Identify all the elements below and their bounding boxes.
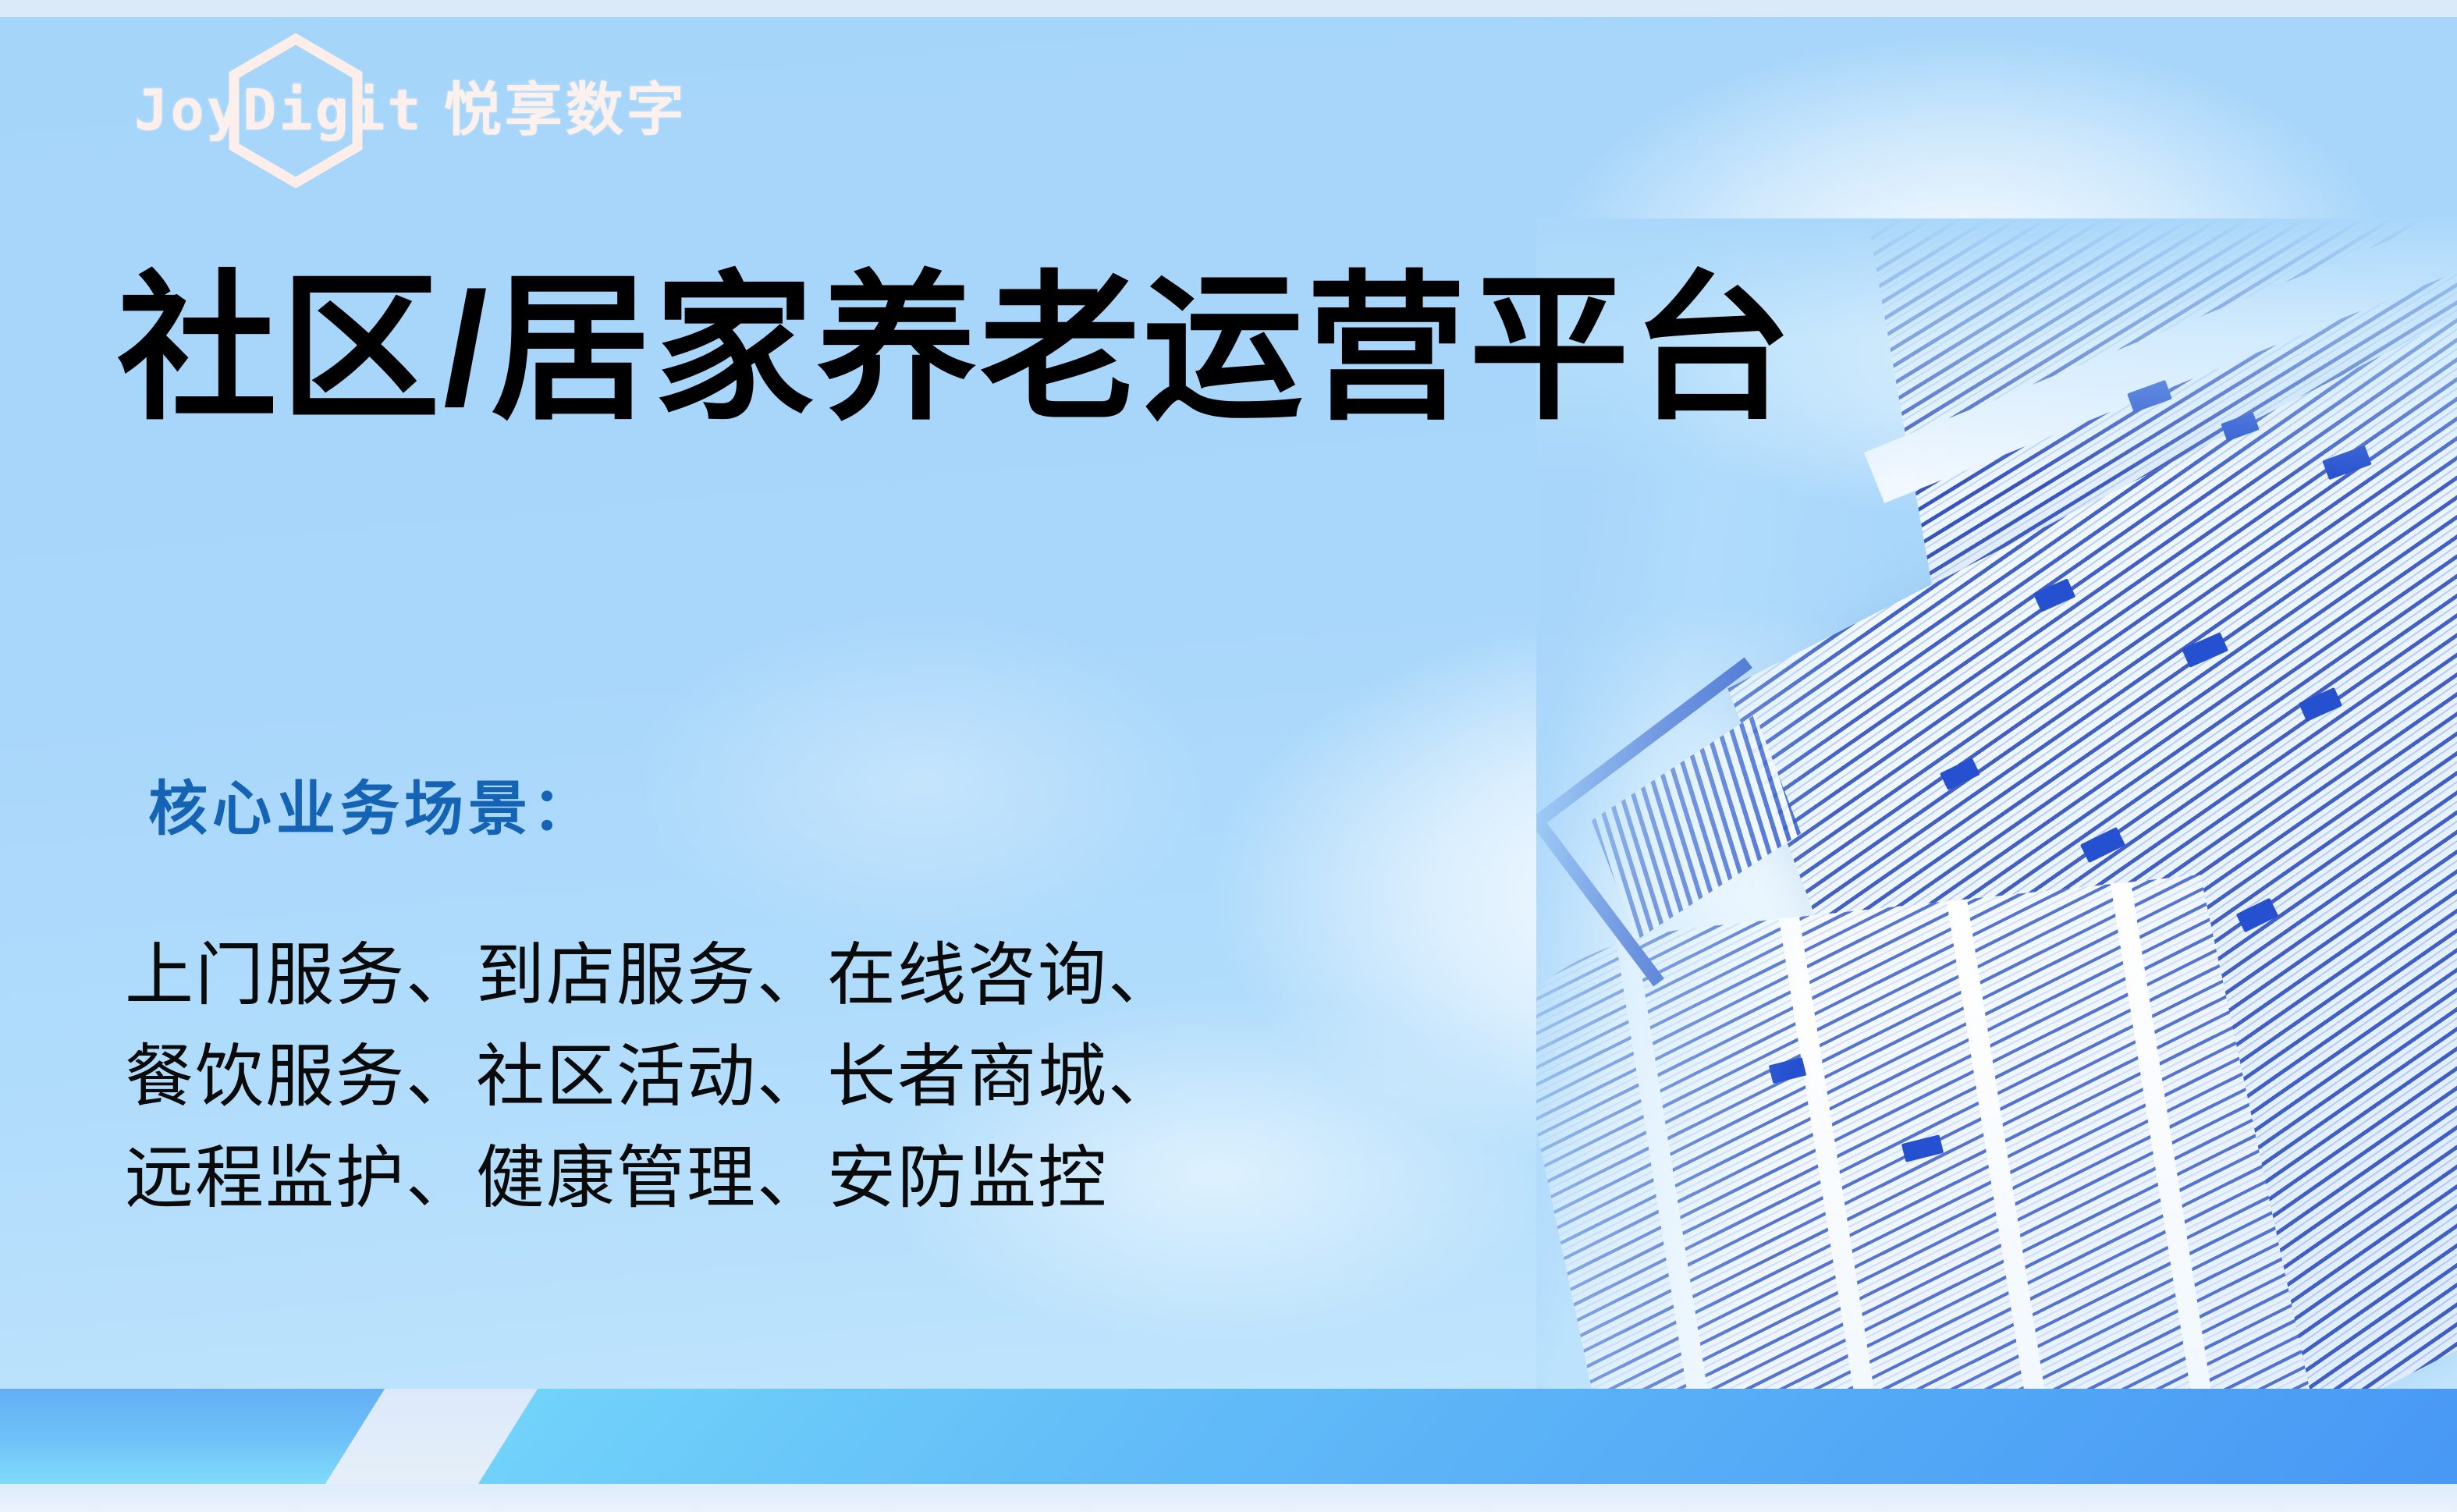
brand-logo[interactable]: JoyDigit 悦享数字 — [134, 67, 687, 153]
facade-mullion — [1947, 900, 2059, 1389]
section-heading: 核心业务场景： — [148, 780, 596, 839]
band-shape-right — [454, 1389, 2457, 1484]
facade-mullion — [2111, 882, 2223, 1389]
scenario-line: 远程监护、健康管理、安防监控 — [125, 1127, 1178, 1229]
slide-canvas: JoyDigit 悦享数字 社区/居家养老运营平台 核心业务场景： 上门服务、到… — [0, 0, 2457, 1512]
logo-wordmark: JoyDigit — [134, 82, 424, 138]
scenario-line: 餐饮服务、社区活动、长者商城、 — [125, 1026, 1178, 1127]
scenario-line: 上门服务、到店服务、在线咨询、 — [125, 925, 1178, 1026]
facade-mullion — [1779, 917, 1891, 1389]
band-base-strip — [0, 1484, 2457, 1512]
facade-mullion — [1615, 935, 1727, 1389]
scenario-list: 上门服务、到店服务、在线咨询、 餐饮服务、社区活动、长者商城、 远程监护、健康管… — [125, 925, 1178, 1230]
logo-chinese-name: 悦享数字 — [444, 81, 687, 139]
bottom-decorative-band — [0, 1389, 2457, 1512]
top-strip — [0, 0, 2457, 17]
page-title: 社区/居家养老运营平台 — [117, 269, 1795, 429]
